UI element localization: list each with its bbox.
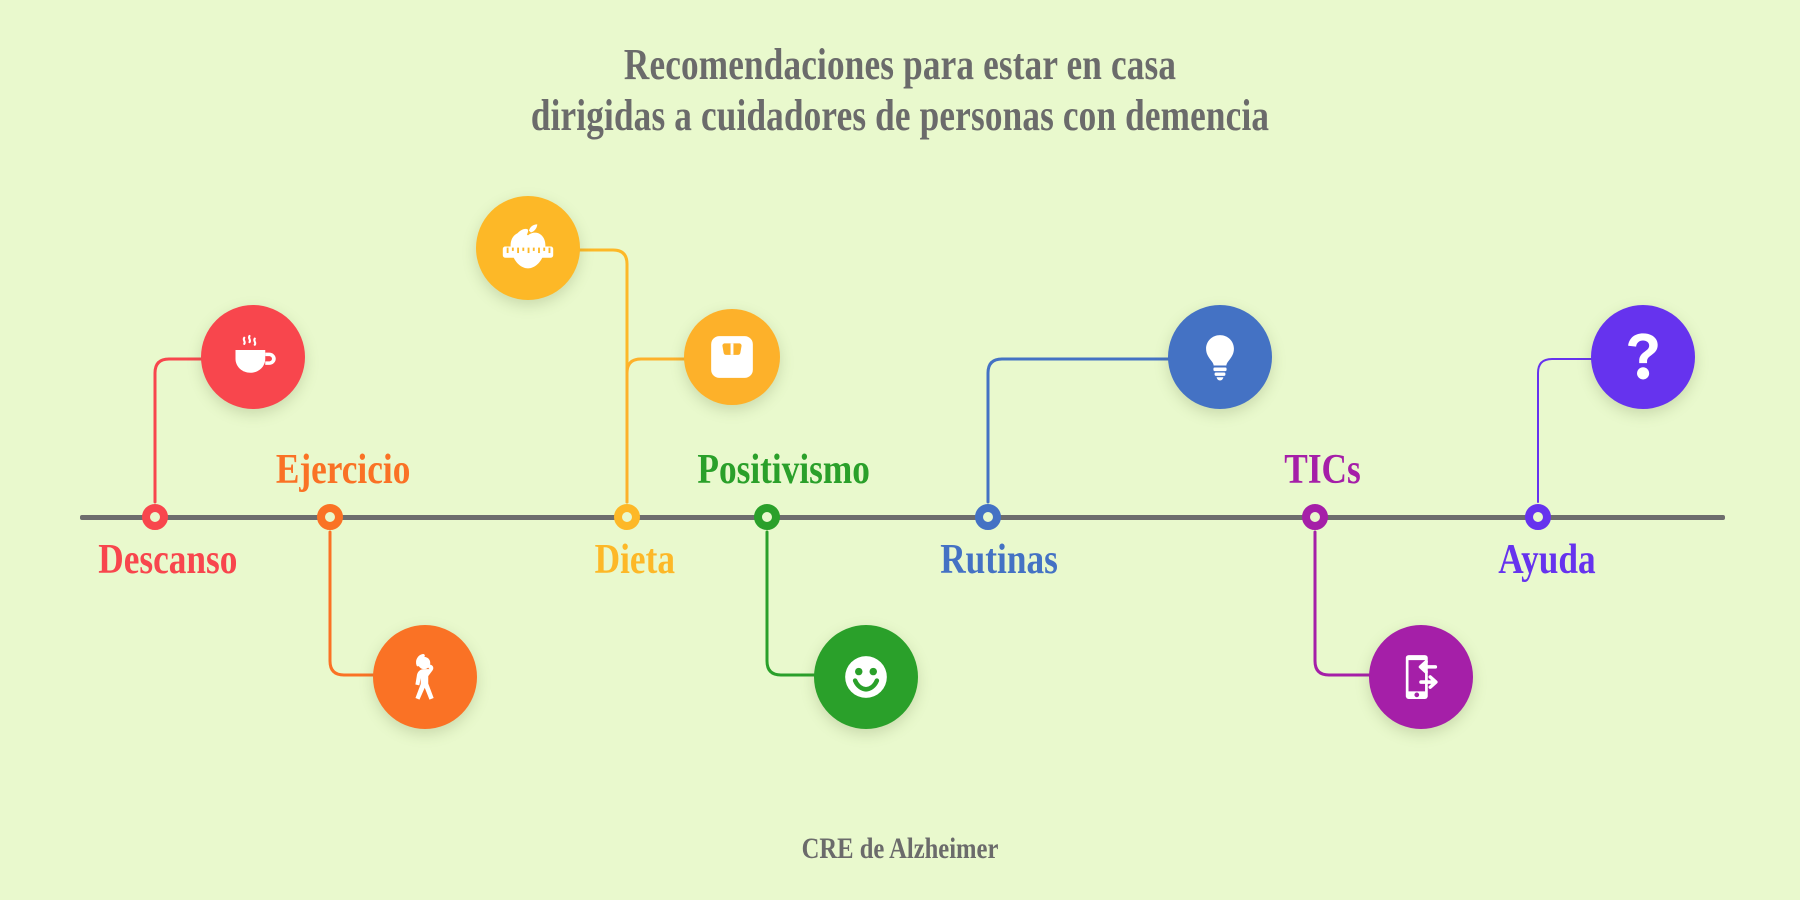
- footer-credit: CRE de Alzheimer: [162, 832, 1638, 866]
- timeline-marker-ayuda[interactable]: [1525, 504, 1551, 530]
- connector-line: [767, 532, 818, 675]
- timeline-label-dieta: Dieta: [594, 536, 674, 584]
- smiley-face-icon: [837, 648, 895, 706]
- tea-cup-icon: [225, 329, 281, 385]
- page-title-line-2: dirigidas a cuidadores de personas con d…: [180, 91, 1620, 142]
- timeline-marker-rutinas[interactable]: [975, 504, 1001, 530]
- connector-line: [988, 359, 1172, 502]
- timeline-marker-dieta[interactable]: [614, 504, 640, 530]
- lightbulb-icon: [1193, 330, 1247, 384]
- icon-bubble-rutinas[interactable]: [1168, 305, 1272, 409]
- smartphone-transfer-icon: [1394, 650, 1448, 704]
- timeline-label-positivismo: Positivismo: [697, 446, 869, 494]
- icon-bubble-positivismo[interactable]: [814, 625, 918, 729]
- apple-measuring-tape-icon: [497, 217, 559, 279]
- timeline-label-tics: TICs: [1284, 446, 1360, 494]
- connector-line: [155, 359, 205, 502]
- question-mark-icon: [1616, 330, 1670, 384]
- timeline-label-ejercicio: Ejercicio: [276, 446, 411, 494]
- connector-line: [330, 532, 377, 675]
- timeline-marker-descanso[interactable]: [142, 504, 168, 530]
- icon-bubble-dieta[interactable]: [476, 196, 580, 300]
- icon-bubble-ayuda[interactable]: [1591, 305, 1695, 409]
- timeline-label-rutinas: Rutinas: [940, 536, 1058, 584]
- connector-line: [627, 359, 684, 502]
- timeline-label-descanso: Descanso: [99, 536, 238, 584]
- timeline-marker-positivismo[interactable]: [754, 504, 780, 530]
- connector-line: [1538, 359, 1595, 502]
- icon-bubble-ejercicio[interactable]: [373, 625, 477, 729]
- infographic-canvas: Recomendaciones para estar en casa dirig…: [0, 0, 1800, 900]
- page-title: Recomendaciones para estar en casa dirig…: [180, 40, 1620, 141]
- timeline-label-ayuda: Ayuda: [1499, 536, 1596, 584]
- timeline-marker-tics[interactable]: [1302, 504, 1328, 530]
- icon-bubble-dieta-secondary[interactable]: [684, 309, 780, 405]
- page-title-line-1: Recomendaciones para estar en casa: [180, 40, 1620, 91]
- timeline-marker-ejercicio[interactable]: [317, 504, 343, 530]
- bathroom-scale-icon: [703, 328, 761, 386]
- connector-line: [1315, 532, 1373, 675]
- icon-bubble-tics[interactable]: [1369, 625, 1473, 729]
- icon-bubble-descanso[interactable]: [201, 305, 305, 409]
- connector-line: [576, 250, 627, 502]
- person-stretching-icon: [397, 649, 453, 705]
